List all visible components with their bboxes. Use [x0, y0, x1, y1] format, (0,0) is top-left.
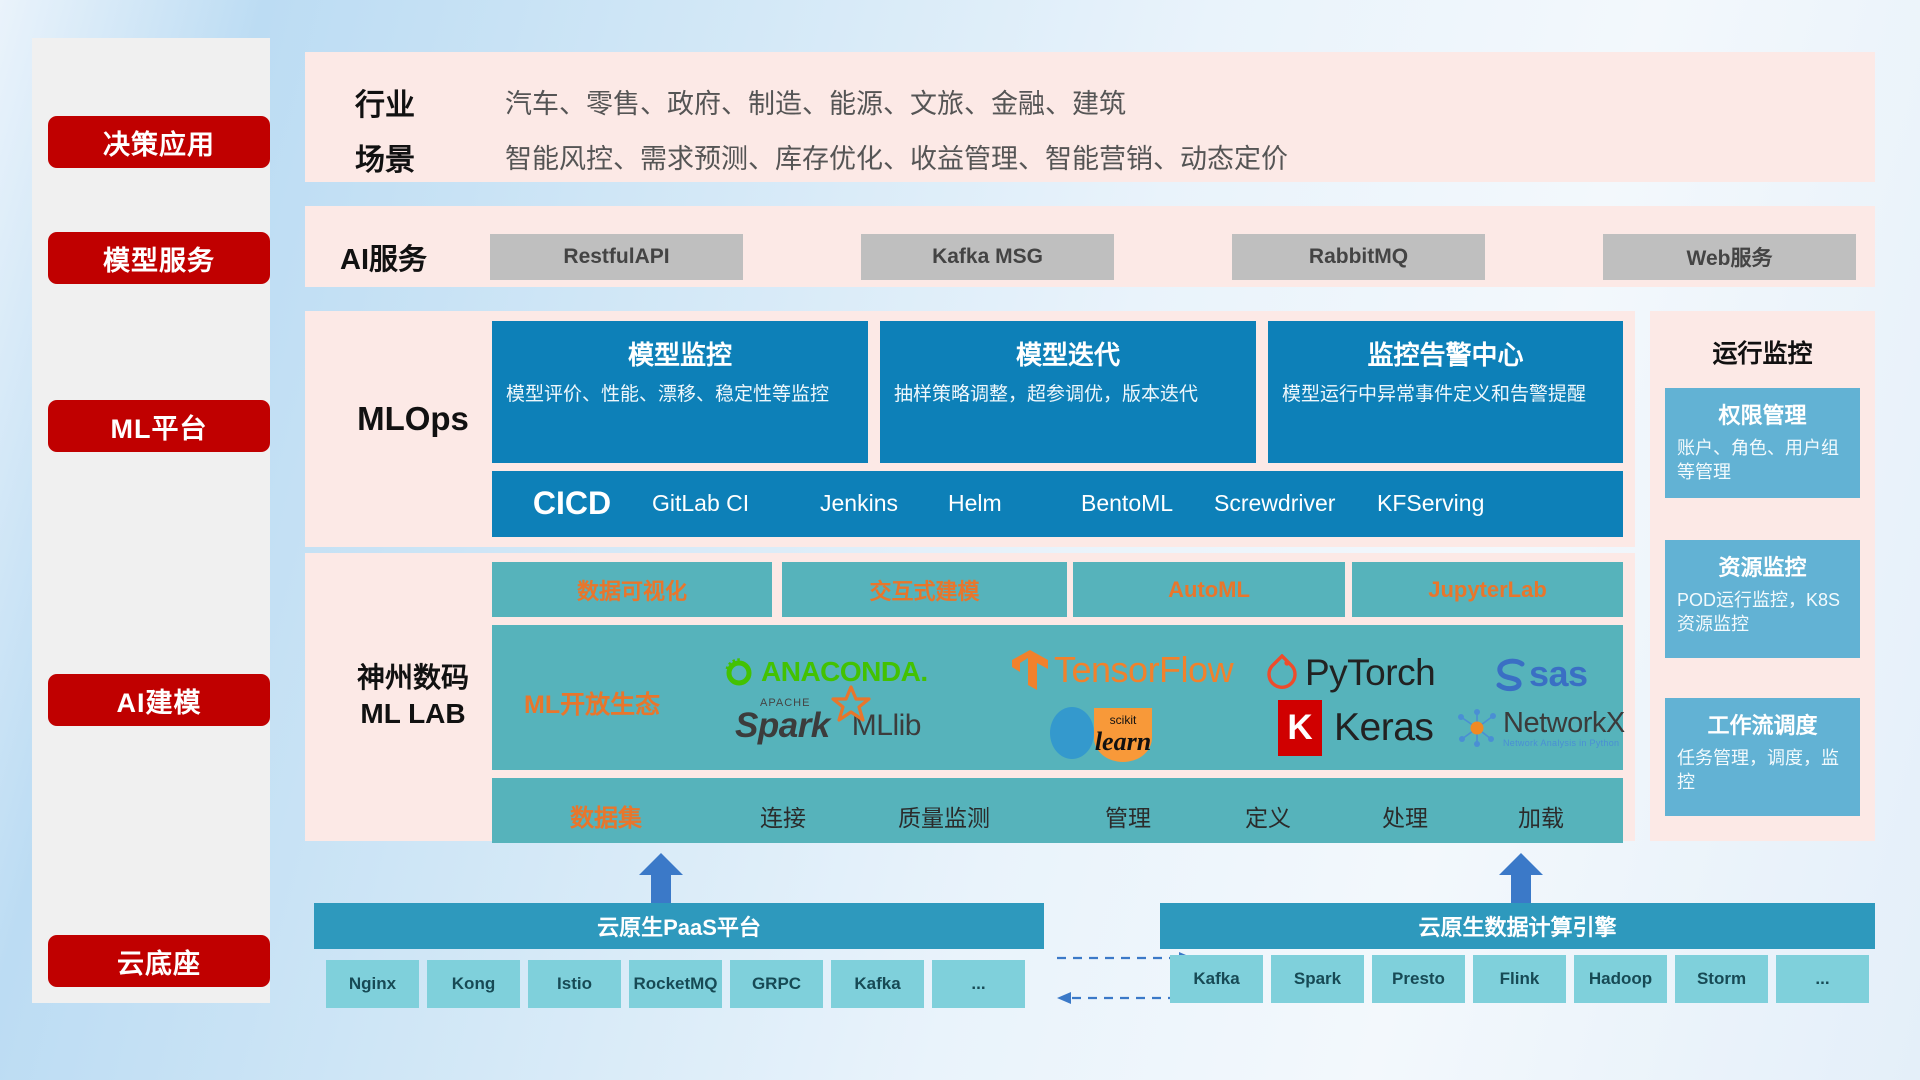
industry-key: 行业 — [355, 80, 415, 124]
card-title: 权限管理 — [1665, 388, 1860, 434]
card-desc: 账户、角色、用户组等管理 — [1665, 434, 1860, 495]
dataset-row — [492, 778, 1623, 843]
tensorflow-wordmark: TensorFlow — [1054, 649, 1233, 691]
scikit-learn-logo: scikit learn — [1042, 700, 1172, 762]
pytorch-wordmark: PyTorch — [1305, 652, 1435, 694]
card-title: 模型迭代 — [880, 321, 1256, 372]
cicd-bar: CICD GitLab CI Jenkins Helm BentoML Scre… — [492, 471, 1623, 537]
stage-ml-platform[interactable]: ML平台 — [48, 400, 270, 452]
card-title: 工作流调度 — [1665, 698, 1860, 744]
industry-values: 汽车、零售、政府、制造、能源、文旅、金融、建筑 — [505, 82, 1126, 121]
cicd-item-kfserving[interactable]: KFServing — [1377, 471, 1527, 518]
cloud-chip-grpc[interactable]: GRPC — [730, 960, 823, 1008]
sas-wordmark: sas — [1529, 653, 1588, 695]
chip-label: Web服务 — [1687, 242, 1773, 272]
networkx-wordmark: NetworkX — [1503, 709, 1625, 738]
bar-label: 云原生PaaS平台 — [597, 910, 761, 942]
pytorch-flame-icon — [1265, 654, 1299, 692]
card-title: 监控告警中心 — [1268, 321, 1623, 372]
ai-chip-restfulapi[interactable]: RestfulAPI — [490, 234, 743, 280]
sas-swirl-icon — [1492, 656, 1528, 692]
chip-label: GRPC — [752, 975, 801, 993]
keras-wordmark: Keras — [1334, 706, 1433, 750]
card-title: 模型监控 — [492, 321, 868, 372]
spark-wordmark: Spark — [735, 706, 830, 746]
networkx-logo: NetworkX Network Analysis in Python — [1455, 708, 1625, 748]
tensorflow-logo: TensorFlow — [1010, 648, 1233, 692]
mllab-lead-line1: 神州数码 — [318, 660, 508, 696]
spark-apache-text: APACHE — [760, 697, 810, 709]
mlops-label: MLOps — [338, 400, 488, 438]
tool-data-visualization[interactable]: 数据可视化 — [492, 562, 772, 617]
cicd-item-gitlab-ci[interactable]: GitLab CI — [652, 471, 820, 518]
networkx-graph-icon — [1455, 708, 1499, 748]
cloud-chip-kafka[interactable]: Kafka — [831, 960, 924, 1008]
svg-text:learn: learn — [1095, 727, 1151, 756]
tool-label: JupyterLab — [1428, 577, 1547, 603]
chip-label: Storm — [1697, 970, 1746, 988]
card-desc: POD运行监控，K8S资源监控 — [1665, 586, 1860, 647]
engine-chip-storm[interactable]: Storm — [1675, 955, 1768, 1003]
data-engine-bar[interactable]: 云原生数据计算引擎 — [1160, 903, 1875, 949]
ai-chip-rabbitmq[interactable]: RabbitMQ — [1232, 234, 1485, 280]
card-desc: 模型运行中异常事件定义和告警提醒 — [1268, 372, 1623, 408]
mlops-card-model-iteration[interactable]: 模型迭代 抽样策略调整，超参调优，版本迭代 — [880, 321, 1256, 463]
stage-rail — [32, 38, 270, 1003]
card-desc: 抽样策略调整，超参调优，版本迭代 — [880, 372, 1256, 408]
chip-label: Nginx — [349, 975, 396, 993]
cicd-label: CICD — [492, 471, 652, 522]
card-title: 资源监控 — [1665, 540, 1860, 586]
mlops-card-alert-center[interactable]: 监控告警中心 模型运行中异常事件定义和告警提醒 — [1268, 321, 1623, 463]
cicd-item-jenkins[interactable]: Jenkins — [820, 471, 948, 518]
stage-ai-modeling[interactable]: AI建模 — [48, 674, 270, 726]
dataset-item-manage[interactable]: 管理 — [1105, 799, 1151, 833]
tensorflow-mark-icon — [1010, 648, 1050, 692]
chip-label: ... — [1815, 970, 1829, 988]
stage-decision-app[interactable]: 决策应用 — [48, 116, 270, 168]
monitoring-card-permissions[interactable]: 权限管理 账户、角色、用户组等管理 — [1665, 388, 1860, 498]
chip-label: Istio — [557, 975, 592, 993]
tool-automl[interactable]: AutoML — [1073, 562, 1345, 617]
anaconda-ring-icon — [722, 655, 756, 689]
chip-label: Kong — [452, 975, 495, 993]
spark-star-icon — [831, 684, 871, 724]
anaconda-logo: ANACONDA. — [722, 655, 928, 689]
tool-label: 交互式建模 — [869, 574, 979, 606]
tool-label: 数据可视化 — [577, 574, 687, 606]
dataset-item-connect[interactable]: 连接 — [760, 799, 806, 833]
chip-label: Hadoop — [1589, 970, 1652, 988]
card-desc: 任务管理，调度，监控 — [1665, 744, 1860, 805]
chip-label: RabbitMQ — [1309, 245, 1408, 269]
monitoring-card-resources[interactable]: 资源监控 POD运行监控，K8S资源监控 — [1665, 540, 1860, 658]
engine-chip-spark[interactable]: Spark — [1271, 955, 1364, 1003]
keras-k-letter: K — [1287, 708, 1312, 748]
architecture-diagram: 决策应用 模型服务 ML平台 AI建模 云底座 行业 汽车、零售、政府、制造、能… — [0, 0, 1920, 1080]
ai-chip-web-service[interactable]: Web服务 — [1603, 234, 1856, 280]
sas-logo: sas — [1492, 653, 1588, 695]
cicd-item-helm[interactable]: Helm — [948, 471, 1081, 518]
pytorch-logo: PyTorch — [1265, 652, 1435, 694]
scikit-learn-mark-icon: scikit learn — [1042, 700, 1172, 762]
chip-label: RocketMQ — [633, 975, 717, 993]
chip-label: Spark — [1294, 970, 1341, 988]
engine-chip-hadoop[interactable]: Hadoop — [1574, 955, 1667, 1003]
stage-cloud-base[interactable]: 云底座 — [48, 935, 270, 987]
svg-text:scikit: scikit — [1110, 713, 1137, 727]
cloud-chip-rocketmq[interactable]: RocketMQ — [629, 960, 722, 1008]
cloud-chip-more-left[interactable]: ... — [932, 960, 1025, 1008]
stage-label: 决策应用 — [103, 123, 215, 162]
scenario-values: 智能风控、需求预测、库存优化、收益管理、智能营销、动态定价 — [505, 137, 1288, 176]
arrow-up-paas-icon — [638, 853, 684, 903]
mllab-lead-line2: ML LAB — [318, 696, 508, 732]
ai-chip-kafka-msg[interactable]: Kafka MSG — [861, 234, 1114, 280]
cloud-chip-nginx[interactable]: Nginx — [326, 960, 419, 1008]
tool-jupyterlab[interactable]: JupyterLab — [1352, 562, 1623, 617]
chip-label: Presto — [1392, 970, 1445, 988]
stage-label: AI建模 — [117, 681, 202, 720]
engine-chip-more-right[interactable]: ... — [1776, 955, 1869, 1003]
monitoring-card-workflow[interactable]: 工作流调度 任务管理，调度，监控 — [1665, 698, 1860, 816]
spark-mllib-logo: APACHE Spark MLlib — [735, 706, 921, 746]
dataset-item-load[interactable]: 加载 — [1518, 799, 1564, 833]
engine-chip-presto[interactable]: Presto — [1372, 955, 1465, 1003]
card-desc: 模型评价、性能、漂移、稳定性等监控 — [492, 372, 868, 408]
cloud-chip-kong[interactable]: Kong — [427, 960, 520, 1008]
engine-chip-flink[interactable]: Flink — [1473, 955, 1566, 1003]
chip-label: RestfulAPI — [563, 245, 669, 269]
cicd-item-bentoml[interactable]: BentoML — [1081, 471, 1214, 518]
dataset-item-quality[interactable]: 质量监测 — [898, 799, 990, 833]
dataset-item-process[interactable]: 处理 — [1382, 799, 1428, 833]
paas-platform-bar[interactable]: 云原生PaaS平台 — [314, 903, 1044, 949]
dataset-item-define[interactable]: 定义 — [1245, 799, 1291, 833]
stage-label: ML平台 — [111, 407, 208, 446]
bar-label: 云原生数据计算引擎 — [1418, 910, 1616, 942]
networkx-tagline: Network Analysis in Python — [1503, 738, 1625, 748]
scenario-key: 场景 — [355, 135, 415, 179]
keras-mark-icon: K — [1278, 700, 1322, 756]
monitoring-title: 运行监控 — [1650, 320, 1875, 370]
cloud-chip-istio[interactable]: Istio — [528, 960, 621, 1008]
ai-service-label: AI服务 — [340, 234, 427, 280]
chip-label: Kafka — [854, 975, 900, 993]
tool-label: AutoML — [1168, 577, 1250, 603]
stage-label: 模型服务 — [103, 239, 215, 278]
tool-interactive-modeling[interactable]: 交互式建模 — [782, 562, 1067, 617]
chip-label: Flink — [1500, 970, 1540, 988]
mllab-lead: 神州数码 ML LAB — [318, 660, 508, 733]
ml-ecosystem-label: ML开放生态 — [524, 685, 660, 721]
chip-label: Kafka — [1193, 970, 1239, 988]
chip-label: Kafka MSG — [932, 245, 1043, 269]
dataset-label: 数据集 — [570, 798, 642, 833]
cicd-item-screwdriver[interactable]: Screwdriver — [1214, 471, 1377, 518]
arrow-up-engine-icon — [1498, 853, 1544, 903]
keras-logo: K Keras — [1278, 700, 1433, 756]
mlops-card-model-monitoring[interactable]: 模型监控 模型评价、性能、漂移、稳定性等监控 — [492, 321, 868, 463]
chip-label: ... — [971, 975, 985, 993]
stage-model-service[interactable]: 模型服务 — [48, 232, 270, 284]
stage-label: 云底座 — [117, 942, 201, 981]
engine-chip-kafka[interactable]: Kafka — [1170, 955, 1263, 1003]
